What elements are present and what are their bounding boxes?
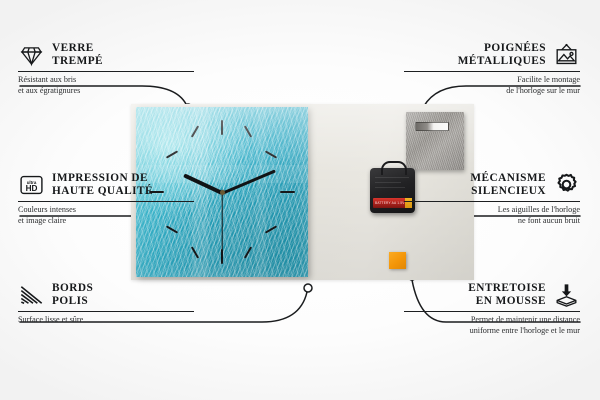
clock-tick [221,120,223,135]
mechanism-detail-line [375,187,405,188]
feature-title: BORDS POLIS [52,282,93,308]
feature-subtitle-line2: et aux égratignures [18,86,194,96]
divider [404,311,580,312]
feature-title-line1: ENTRETOISE [468,282,546,295]
feature-verre-trempe[interactable]: VERRE TREMPÉ Résistant aux bris et aux é… [18,42,194,96]
feature-impression-haute-qualite[interactable]: ultra HD IMPRESSION DE HAUTE QUALITÉ Cou… [18,172,194,226]
feature-subtitle-line2: et image claire [18,216,194,226]
diamond-icon [18,42,45,68]
feature-title: ENTRETOISE EN MOUSSE [468,282,546,308]
infographic-canvas: BATTERY AA 1.5V VERRE TREMPÉ Ré [0,0,600,400]
feature-title: POIGNÉES MÉTALLIQUES [458,42,546,68]
feature-subtitle-line2: de l'horloge sur le mur [404,86,580,96]
foam-spacer [389,252,406,269]
mechanism-detail-line [375,182,401,183]
battery-label: BATTERY AA 1.5V [375,201,405,205]
feature-title-line2: MÉTALLIQUES [458,55,546,68]
feature-subtitle-line1: Surface lisse et sûre [18,315,194,325]
feature-title: MÉCANISME SILENCIEUX [470,172,546,198]
feature-subtitle: Couleurs intenses et image claire [18,205,194,226]
divider [18,311,194,312]
feature-title-line1: BORDS [52,282,93,295]
feature-title-line2: TREMPÉ [52,55,103,68]
marker-bords-polis [304,284,312,292]
feature-subtitle-line1: Facilite le montage [404,75,580,85]
ultra-hd-icon: ultra HD [18,172,45,198]
feature-title-line1: POIGNÉES [458,42,546,55]
divider [404,71,580,72]
feature-subtitle: Les aiguilles de l'horloge ne font aucun… [404,205,580,226]
feature-subtitle: Permet de maintenir une distance uniform… [404,315,580,336]
feature-title-line2: POLIS [52,295,93,308]
polished-edge-lines-icon [18,282,45,308]
divider [404,201,580,202]
feature-entretoise-en-mousse[interactable]: ENTRETOISE EN MOUSSE Permet de maintenir… [404,282,580,336]
hanging-frame-icon [553,42,580,68]
feature-title-line2: SILENCIEUX [470,185,546,198]
feature-bords-polis[interactable]: BORDS POLIS Surface lisse et sûre [18,282,194,326]
feature-subtitle-line1: Couleurs intenses [18,205,194,215]
feature-title-line1: MÉCANISME [470,172,546,185]
feature-title-line1: VERRE [52,42,103,55]
feature-title-line2: EN MOUSSE [468,295,546,308]
feature-title-line2: HAUTE QUALITÉ [52,185,153,198]
feature-subtitle-line1: Permet de maintenir une distance [404,315,580,325]
feature-subtitle-line2: uniforme entre l'horloge et le mur [404,326,580,336]
divider [18,71,194,72]
feature-subtitle-line1: Les aiguilles de l'horloge [404,205,580,215]
glass-reflection-band [256,107,266,277]
feature-title: VERRE TREMPÉ [52,42,103,68]
feature-title: IMPRESSION DE HAUTE QUALITÉ [52,172,153,198]
second-hand [221,193,222,259]
metallic-hanger-plate [406,112,464,170]
feature-subtitle-line2: ne font aucun bruit [404,216,580,226]
ultra-hd-icon-big-text: HD [26,184,38,193]
hands-center-cap [220,190,225,195]
hanger-slot [415,122,449,131]
feature-subtitle: Surface lisse et sûre [18,315,194,325]
feature-poignees-metalliques[interactable]: POIGNÉES MÉTALLIQUES Facilite le montage… [404,42,580,96]
divider [18,201,194,202]
feature-mecanisme-silencieux[interactable]: MÉCANISME SILENCIEUX Les aiguilles de l'… [404,172,580,226]
feature-title-line1: IMPRESSION DE [52,172,153,185]
feature-subtitle: Facilite le montage de l'horloge sur le … [404,75,580,96]
clock-tick [280,191,295,193]
feature-subtitle-line1: Résistant aux bris [18,75,194,85]
feature-subtitle: Résistant aux bris et aux égratignures [18,75,194,96]
arrow-down-onto-layer-icon [553,282,580,308]
gear-icon [553,172,580,198]
